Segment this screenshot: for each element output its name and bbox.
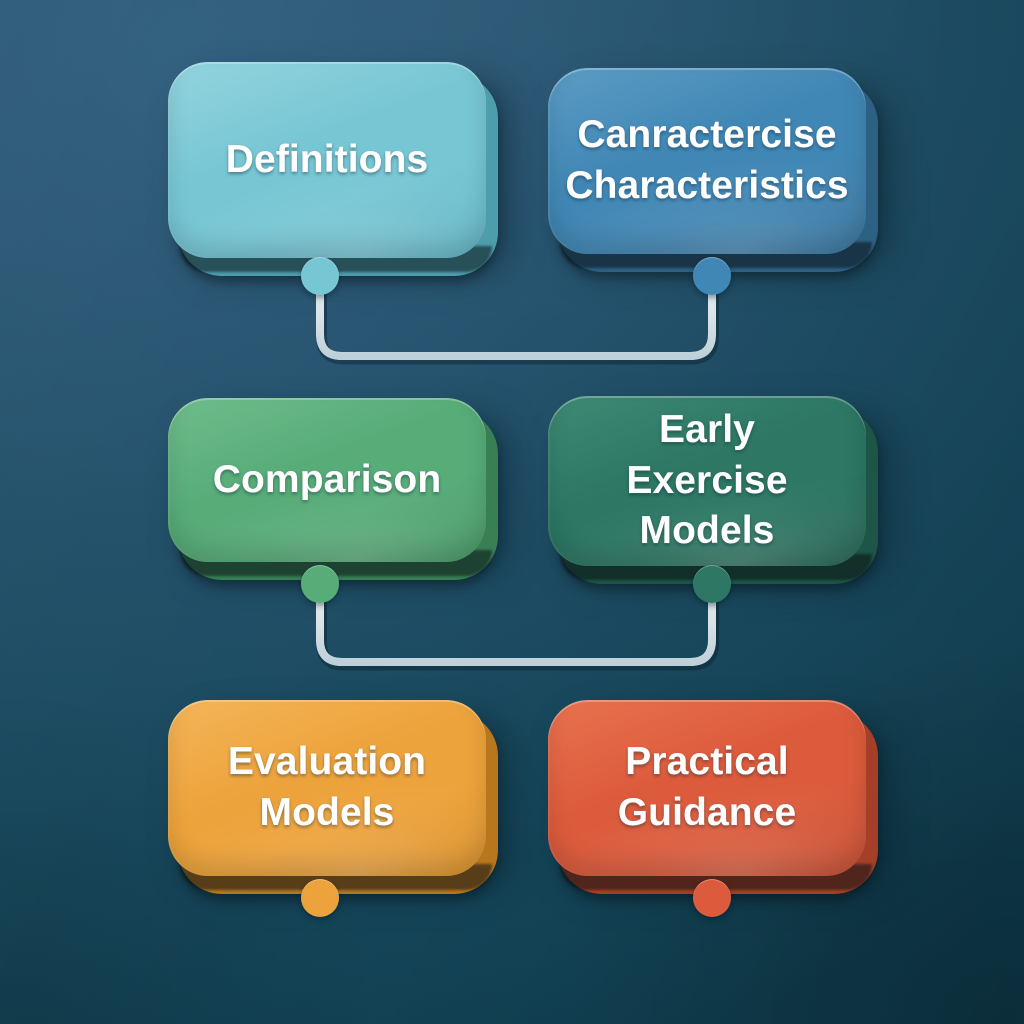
connector-dot-definitions[interactable] bbox=[301, 257, 339, 295]
node-early-exercise-models[interactable]: Early Exercise Models bbox=[548, 396, 866, 566]
node-label-evaluation-models: Evaluation Models bbox=[202, 737, 452, 838]
node-face[interactable]: Early Exercise Models bbox=[548, 396, 866, 566]
node-definitions[interactable]: Definitions bbox=[168, 62, 486, 258]
node-label-comparison: Comparison bbox=[187, 455, 468, 506]
node-label-early-exercise-models: Early Exercise Models bbox=[548, 405, 866, 557]
node-face[interactable]: Evaluation Models bbox=[168, 700, 486, 876]
node-label-definitions: Definitions bbox=[200, 135, 455, 186]
node-face[interactable]: Definitions bbox=[168, 62, 486, 258]
connector-dot-early-exercise-models[interactable] bbox=[693, 565, 731, 603]
node-face[interactable]: Comparison bbox=[168, 398, 486, 562]
connector-dot-practical-guidance[interactable] bbox=[693, 879, 731, 917]
node-face[interactable]: Canractercise Characteristics bbox=[548, 68, 866, 254]
node-comparison[interactable]: Comparison bbox=[168, 398, 486, 562]
connector-dot-evaluation-models[interactable] bbox=[301, 879, 339, 917]
node-characteristics[interactable]: Canractercise Characteristics bbox=[548, 68, 866, 254]
diagram-canvas: DefinitionsCanractercise Characteristics… bbox=[0, 0, 1024, 1024]
node-face[interactable]: Practical Guidance bbox=[548, 700, 866, 876]
node-evaluation-models[interactable]: Evaluation Models bbox=[168, 700, 486, 876]
node-label-characteristics: Canractercise Characteristics bbox=[548, 110, 866, 211]
connector-dot-comparison[interactable] bbox=[301, 565, 339, 603]
connector-dot-characteristics[interactable] bbox=[693, 257, 731, 295]
node-label-practical-guidance: Practical Guidance bbox=[592, 737, 823, 838]
node-practical-guidance[interactable]: Practical Guidance bbox=[548, 700, 866, 876]
